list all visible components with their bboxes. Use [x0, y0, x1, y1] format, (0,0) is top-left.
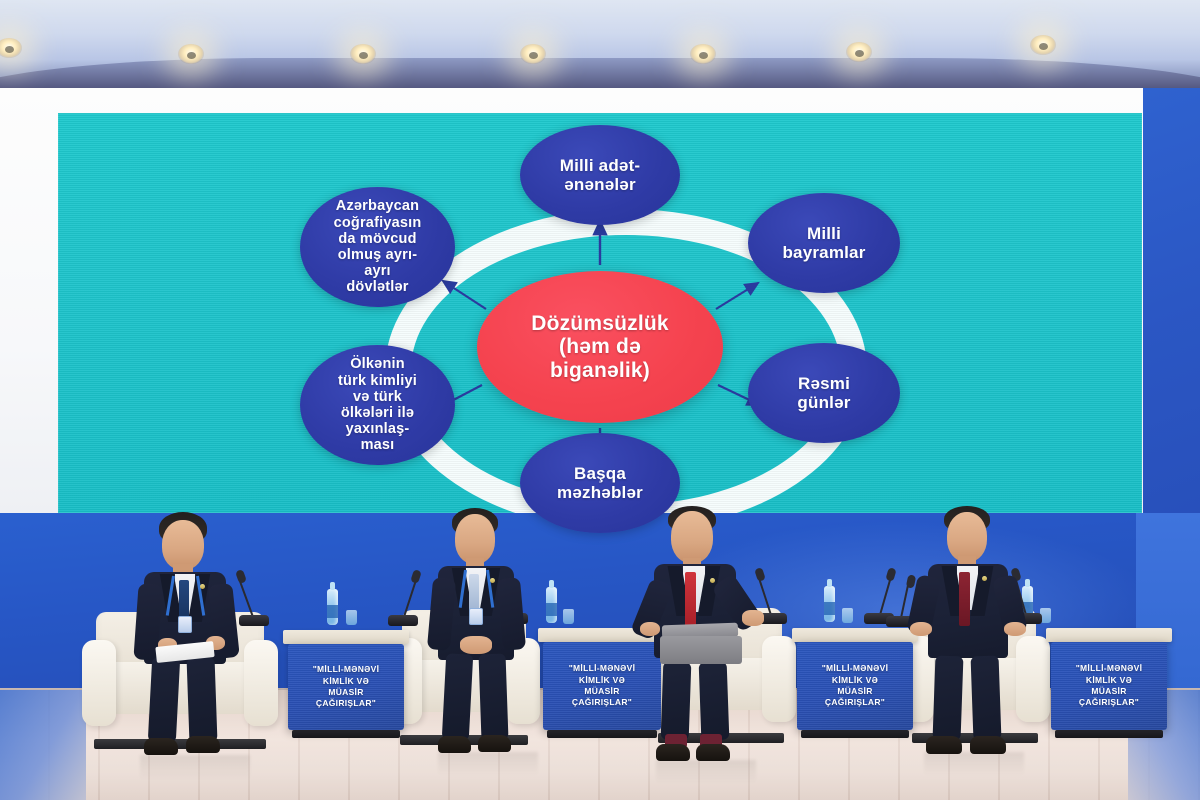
- panelist-1: [120, 512, 300, 792]
- panelist-1-tie: [179, 580, 189, 620]
- diagram-center-node-dozumsuzluk: Dözümsüzlük(həm dəbiganəlik): [477, 271, 723, 423]
- side-table-1: [283, 630, 409, 644]
- floor-light-left: [0, 690, 86, 800]
- table-placard-1: "MİLLİ-MƏNƏVİKİMLİK VƏMÜASİRÇAĞIRIŞLAR": [288, 644, 404, 730]
- diagram-node-olkenin-turk-kimliyi: Ölkənintürk kimliyivə türkölkələri iləya…: [300, 345, 455, 465]
- ceiling-spotlight: [350, 44, 376, 64]
- panelist-1-shoe-right: [186, 736, 220, 753]
- panelist-4-leg-right: [971, 656, 1002, 741]
- panelist-2-head: [455, 514, 495, 564]
- panelist-1-leg-right: [187, 658, 218, 743]
- conference-stage-photo: Milli adət-ənənələr Millibayramlar Rəsmi…: [0, 0, 1200, 800]
- ceiling-spotlight: [0, 38, 22, 58]
- panelist-2-shoe-left: [438, 736, 471, 753]
- panelist-4-tie: [959, 572, 970, 626]
- water-bottle-1: [327, 589, 338, 625]
- panelist-4-leg-left: [933, 656, 964, 741]
- panelist-3-shoe-right: [696, 744, 730, 761]
- panelist-4-hand-left-on-armrest: [910, 622, 932, 636]
- ceiling-spotlight: [690, 44, 716, 64]
- water-glass-1: [346, 610, 357, 625]
- panelist-2-lapel-pin: [490, 578, 495, 583]
- panelist-3-shoe-left: [656, 744, 690, 761]
- panelist-4-shoe-right: [970, 736, 1006, 754]
- led-presentation-screen: Milli adət-ənənələr Millibayramlar Rəsmi…: [58, 113, 1142, 513]
- panelist-3-lapel-pin: [710, 578, 715, 583]
- panelist-3-hand-right-gesture: [742, 610, 764, 626]
- diagram-node-milli-bayramlar: Millibayramlar: [748, 193, 900, 293]
- diagram-node-azerbaycan-cografiyasi: Azərbaycancoğrafiyasında mövcudolmuş ayr…: [300, 187, 455, 307]
- panelist-1-shoe-left: [144, 738, 178, 755]
- panelist-4-lapel-pin: [982, 576, 987, 581]
- panelist-4-head: [947, 512, 987, 562]
- panelist-2-tie: [469, 574, 479, 612]
- panelist-2: [420, 508, 580, 788]
- diagram-node-milli-adet-enenler: Milli adət-ənənələr: [520, 125, 680, 225]
- ceiling: [0, 0, 1200, 96]
- microphone-2: [388, 570, 418, 626]
- wall-blue-panel-right: [1143, 88, 1200, 518]
- panelist-3-head: [671, 511, 713, 563]
- panelist-4: [908, 506, 1078, 786]
- ceiling-spotlight: [520, 44, 546, 64]
- ceiling-spotlight: [178, 44, 204, 64]
- panelist-2-arm-right: [497, 577, 526, 651]
- panelist-4-hand-right-on-armrest: [1004, 622, 1026, 636]
- panelist-3-tie: [685, 572, 696, 628]
- panelist-3: [638, 506, 818, 786]
- water-bottle-3: [824, 586, 835, 622]
- panelist-2-shoe-right: [478, 735, 511, 752]
- panelist-1-lapel-pin: [200, 584, 205, 589]
- water-glass-3: [842, 608, 853, 623]
- panelist-2-leg-right: [479, 654, 509, 741]
- side-table-base-1: [292, 730, 400, 738]
- panelist-1-head: [162, 520, 204, 570]
- placard-text-1: "MİLLİ-MƏNƏVİKİMLİK VƏMÜASİRÇAĞIRIŞLAR": [288, 644, 404, 730]
- panelist-3-hand-left: [640, 622, 660, 636]
- panelist-1-leg-left: [148, 657, 180, 742]
- panelist-3-leg-right: [699, 662, 730, 741]
- laptop-base: [660, 636, 742, 664]
- panelist-2-leg-left: [442, 653, 473, 740]
- panelist-4-shoe-left: [926, 736, 962, 754]
- diagram-node-resmi-gunler: Rəsmigünlər: [748, 343, 900, 443]
- panelist-3-leg-left: [661, 662, 692, 741]
- panelist-1-badge: [178, 616, 192, 633]
- panelist-2-hands-clasped: [460, 636, 492, 654]
- panelist-2-badge: [469, 608, 483, 625]
- ceiling-spotlight: [846, 42, 872, 62]
- ceiling-spotlight: [1030, 35, 1056, 55]
